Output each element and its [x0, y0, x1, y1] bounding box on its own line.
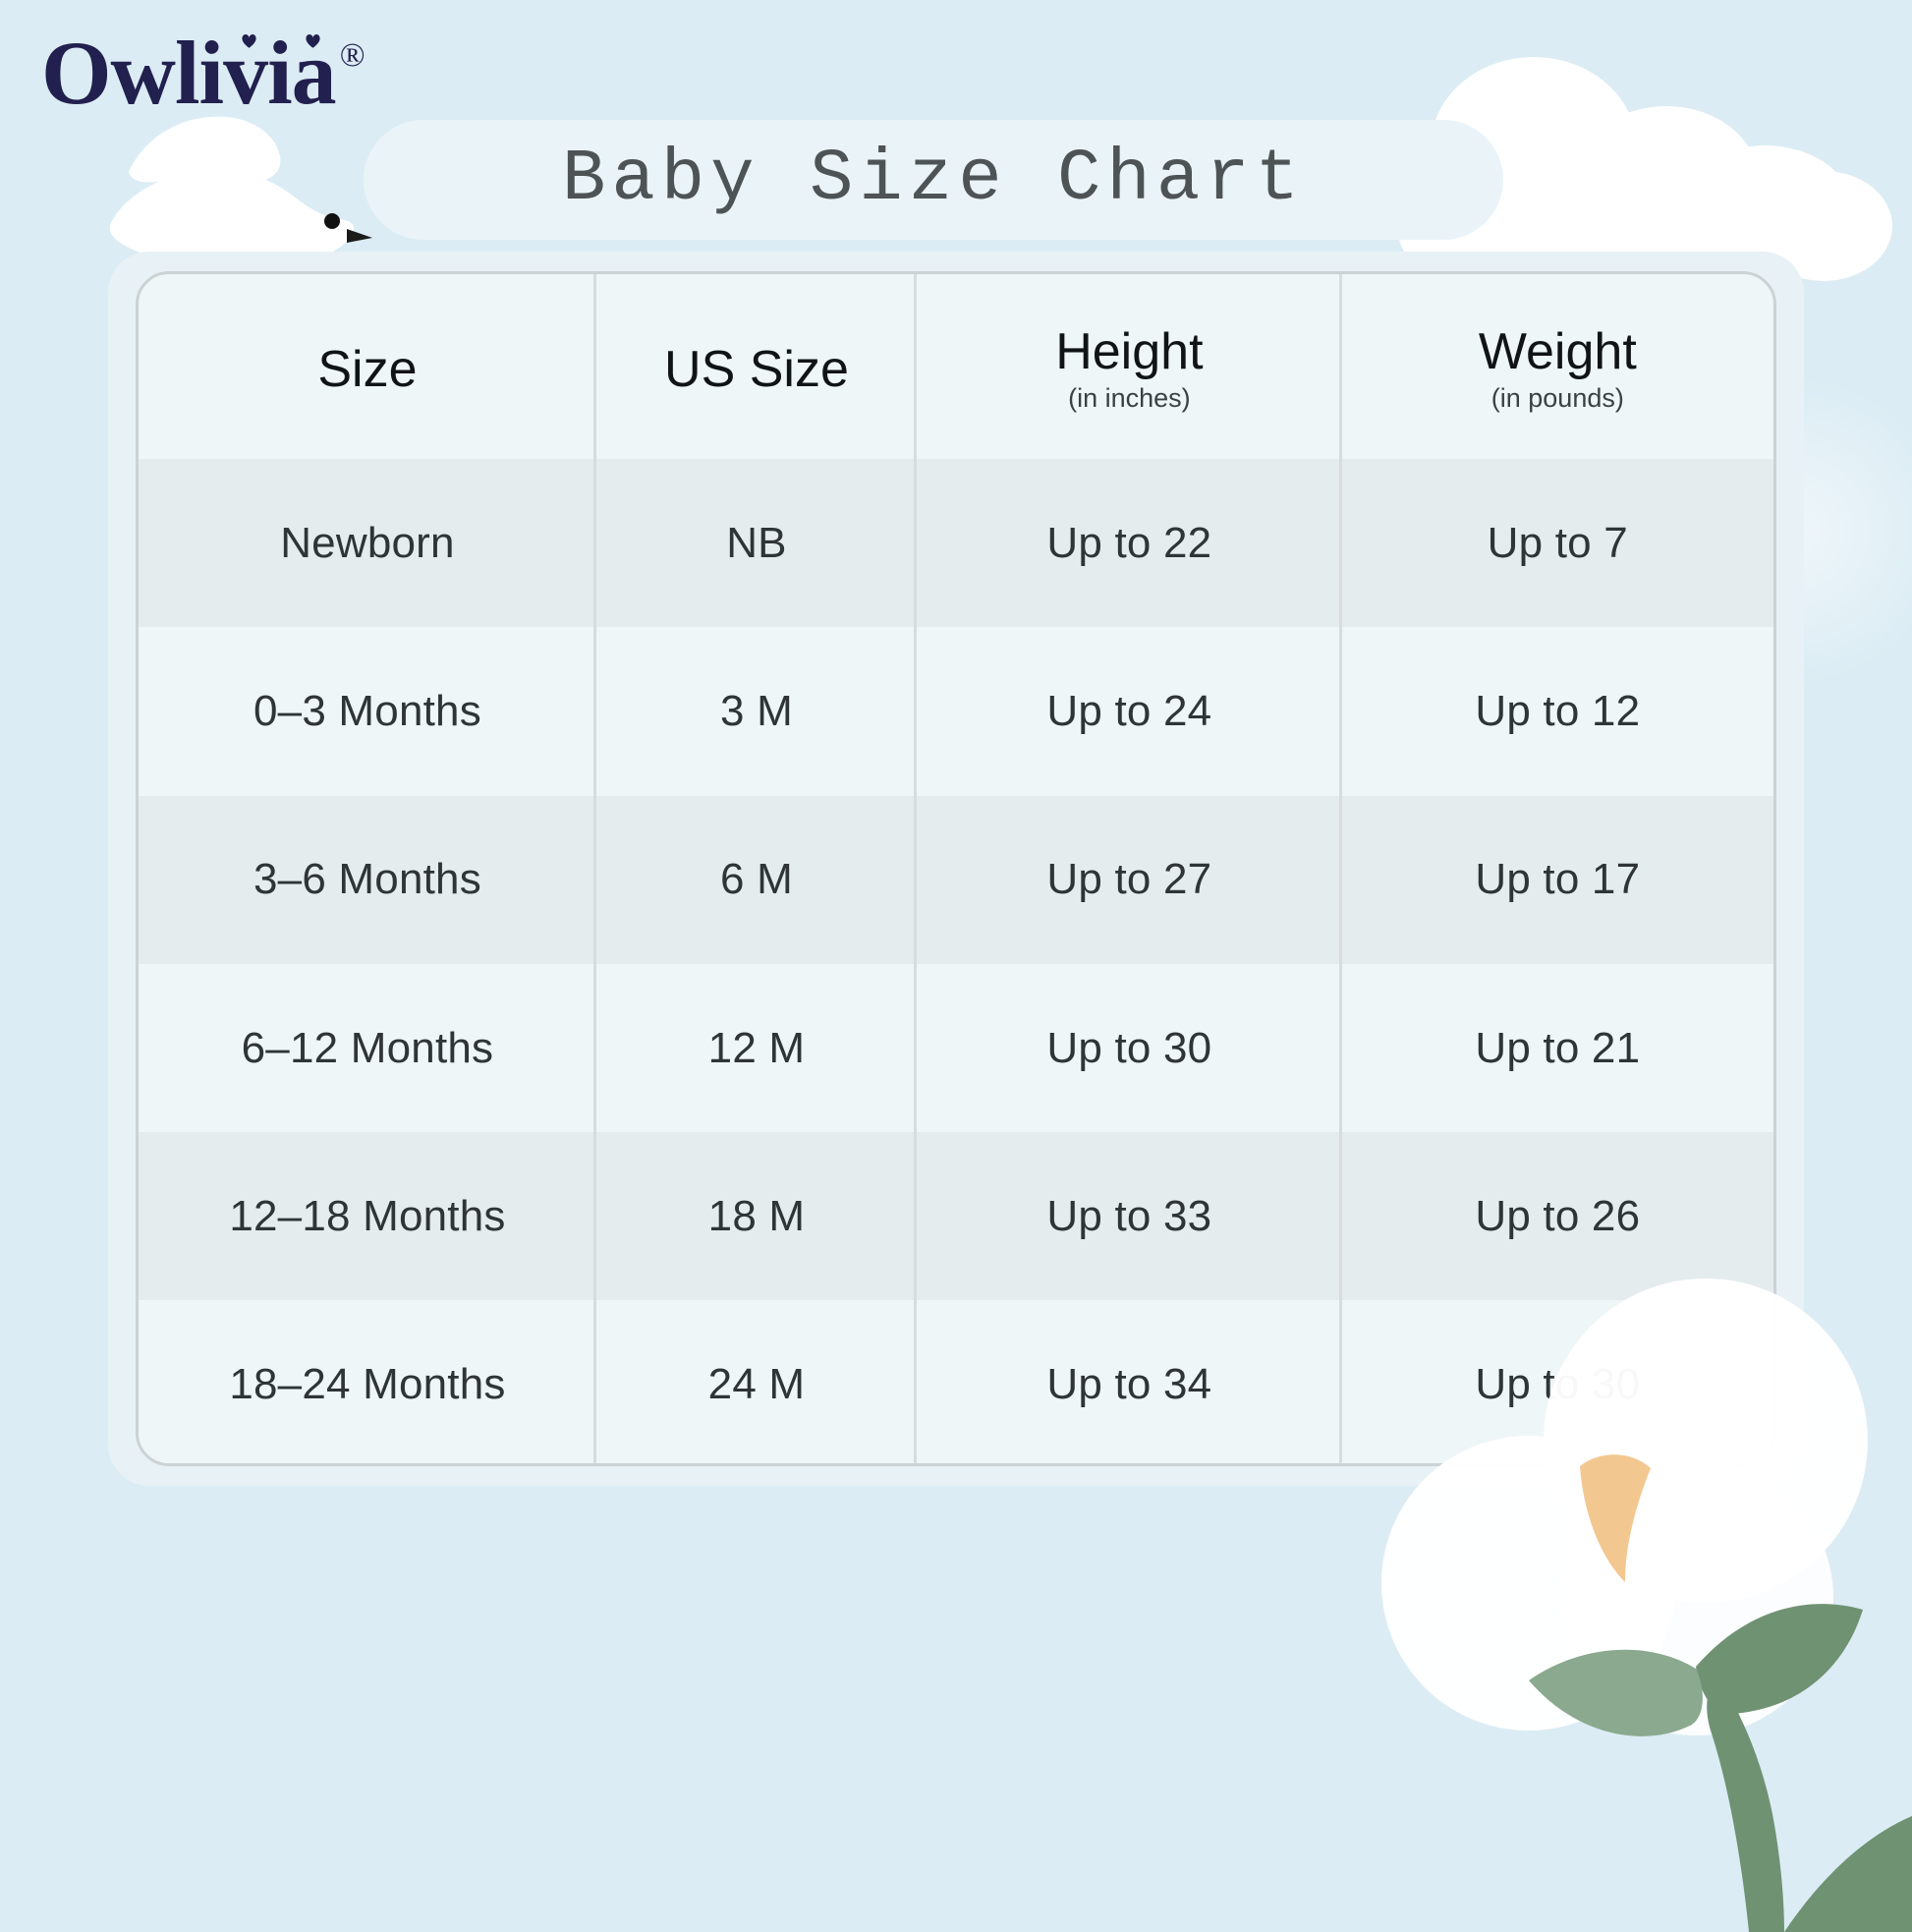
cell-size: 12–18 Months	[139, 1132, 596, 1300]
table-row: 18–24 Months 24 M Up to 34 Up to 30	[139, 1300, 1773, 1466]
cell-height: Up to 30	[917, 964, 1342, 1132]
cell-weight: Up to 21	[1342, 964, 1773, 1132]
cell-weight: Up to 17	[1342, 796, 1773, 964]
page-title: Baby Size Chart	[562, 139, 1305, 221]
cell-weight: Up to 30	[1342, 1300, 1773, 1466]
registered-mark: ®	[340, 37, 366, 75]
cell-size: 18–24 Months	[139, 1300, 596, 1466]
page-title-pill: Baby Size Chart	[364, 120, 1503, 240]
column-header-us-size: US Size	[596, 274, 917, 459]
cell-height: Up to 24	[917, 627, 1342, 795]
size-table: Size US Size Height (in inches) Weight (…	[136, 271, 1776, 1466]
table-header-row: Size US Size Height (in inches) Weight (…	[139, 274, 1773, 459]
cell-us-size: 3 M	[596, 627, 917, 795]
column-header-weight: Weight (in pounds)	[1342, 274, 1773, 459]
cell-height: Up to 34	[917, 1300, 1342, 1466]
cell-size: Newborn	[139, 459, 596, 627]
cell-size: 3–6 Months	[139, 796, 596, 964]
table-row: Newborn NB Up to 22 Up to 7	[139, 459, 1773, 627]
cell-height: Up to 22	[917, 459, 1342, 627]
cell-us-size: 24 M	[596, 1300, 917, 1466]
column-header-size: Size	[139, 274, 596, 459]
cell-us-size: 18 M	[596, 1132, 917, 1300]
cell-weight: Up to 12	[1342, 627, 1773, 795]
table-row: 3–6 Months 6 M Up to 27 Up to 17	[139, 796, 1773, 964]
table-row: 0–3 Months 3 M Up to 24 Up to 12	[139, 627, 1773, 795]
heart-dot-icon	[305, 33, 321, 49]
cell-size: 0–3 Months	[139, 627, 596, 795]
cell-us-size: 6 M	[596, 796, 917, 964]
table-row: 6–12 Months 12 M Up to 30 Up to 21	[139, 964, 1773, 1132]
cell-height: Up to 27	[917, 796, 1342, 964]
heart-dot-icon	[241, 33, 257, 49]
cell-us-size: 12 M	[596, 964, 917, 1132]
cell-weight: Up to 26	[1342, 1132, 1773, 1300]
brand-name: Owlivia	[41, 28, 336, 118]
table-row: 12–18 Months 18 M Up to 33 Up to 26	[139, 1132, 1773, 1300]
cell-weight: Up to 7	[1342, 459, 1773, 627]
brand-logo: Owlivia ®	[41, 28, 366, 118]
cell-us-size: NB	[596, 459, 917, 627]
cell-height: Up to 33	[917, 1132, 1342, 1300]
column-header-height: Height (in inches)	[917, 274, 1342, 459]
cell-size: 6–12 Months	[139, 964, 596, 1132]
